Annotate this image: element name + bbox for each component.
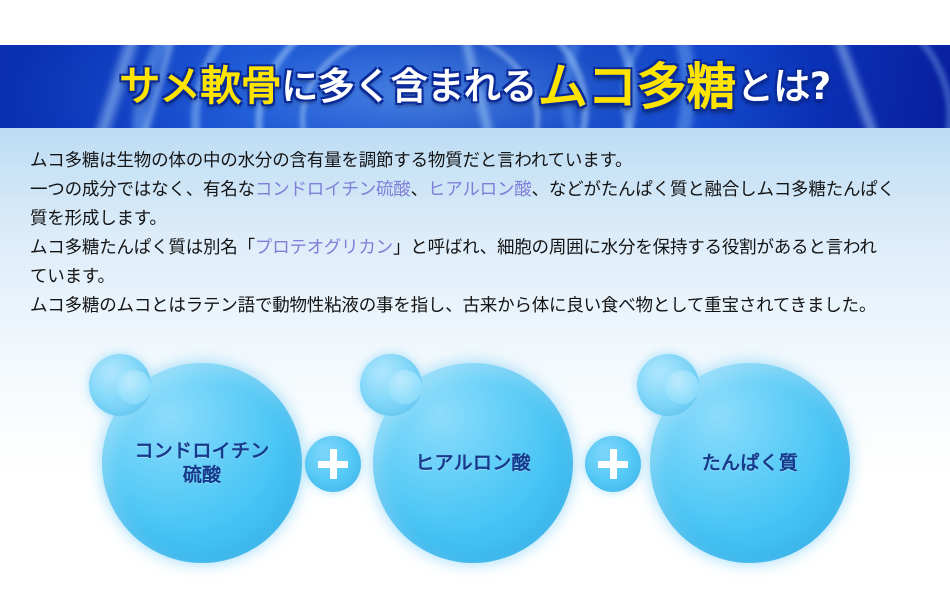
top-white-strip [0, 0, 950, 45]
bubble-highlight-small-icon [117, 370, 151, 404]
plus-icon [305, 436, 361, 492]
banner-title: サメ軟骨 に多く含まれる ムコ多糖 とは? [0, 45, 950, 128]
plus-vertical-bar [330, 449, 337, 479]
text-run: 、 [411, 180, 428, 200]
term-hyaluronic-acid: ヒアルロン酸 [428, 180, 532, 200]
text-run: 」と呼ばれ、細胞の周囲に水分を保持する役割があると言われ [393, 238, 877, 258]
content-area: ムコ多糖は生物の体の中の水分の含有量を調節する物質だと言われています。 一つの成… [0, 128, 950, 609]
plus-icon [585, 436, 641, 492]
bubble-label: コンドロイチン 硫酸 [134, 439, 269, 487]
description-line: 一つの成分ではなく、有名なコンドロイチン硫酸、ヒアルロン酸、などがたんぱく質と融… [30, 176, 925, 205]
description-line: ムコ多糖たんぱく質は別名「プロテオグリカン」と呼ばれ、細胞の周囲に水分を保持する… [30, 234, 925, 263]
bubble-label-line1: コンドロイチン [134, 440, 269, 462]
diagram-circle-chondroitin-sulfate: コンドロイチン 硫酸 [97, 358, 307, 568]
banner-title-part-3: ムコ多糖 [538, 62, 736, 112]
text-run: ムコ多糖たんぱく質は別名「 [30, 238, 255, 258]
bubble-label-line2: 硫酸 [183, 464, 222, 486]
text-run: 一つの成分ではなく、有名な [30, 180, 255, 200]
component-diagram: コンドロイチン 硫酸 ヒアルロン酸 [0, 350, 950, 595]
diagram-circle-hyaluronic-acid: ヒアルロン酸 [368, 358, 578, 568]
description-line: ています。 [30, 263, 925, 292]
text-run: ムコ多糖は生物の体の中の水分の含有量を調節する物質だと言われています。 [30, 151, 632, 171]
description-line: ムコ多糖のムコとはラテン語で動物性粘液の事を指し、古来から体に良い食べ物として重… [30, 292, 925, 321]
term-proteoglycan: プロテオグリカン [255, 238, 393, 258]
page-root: サメ軟骨 に多く含まれる ムコ多糖 とは? ムコ多糖は生物の体の中の水分の含有量… [0, 0, 950, 609]
description-line: ムコ多糖は生物の体の中の水分の含有量を調節する物質だと言われています。 [30, 147, 925, 176]
term-chondroitin-sulfate: コンドロイチン硫酸 [255, 180, 411, 200]
banner-title-part-2: に多く含まれる [281, 68, 537, 105]
description-paragraph: ムコ多糖は生物の体の中の水分の含有量を調節する物質だと言われています。 一つの成… [30, 147, 925, 321]
text-run: ています。 [30, 267, 115, 287]
bubble-label-line1: ヒアルロン酸 [415, 452, 531, 474]
plus-vertical-bar [610, 449, 617, 479]
bubble-label: ヒアルロン酸 [415, 451, 531, 475]
bubble-highlight-small-icon [388, 370, 422, 404]
bubble-label: たんぱく質 [702, 451, 799, 475]
description-line: 質を形成します。 [30, 205, 925, 234]
diagram-circle-protein: たんぱく質 [645, 358, 855, 568]
text-run: ムコ多糖のムコとはラテン語で動物性粘液の事を指し、古来から体に良い食べ物として重… [30, 296, 876, 316]
bubble-highlight-small-icon [665, 370, 699, 404]
header-banner: サメ軟骨 に多く含まれる ムコ多糖 とは? [0, 45, 950, 128]
text-run: 質を形成します。 [30, 209, 167, 229]
bubble-label-line1: たんぱく質 [702, 452, 799, 474]
banner-title-part-4: とは? [737, 68, 831, 105]
text-run: 、などがたんぱく質と融合しムコ多糖たんぱく [532, 180, 895, 200]
banner-title-part-1: サメ軟骨 [119, 66, 281, 107]
